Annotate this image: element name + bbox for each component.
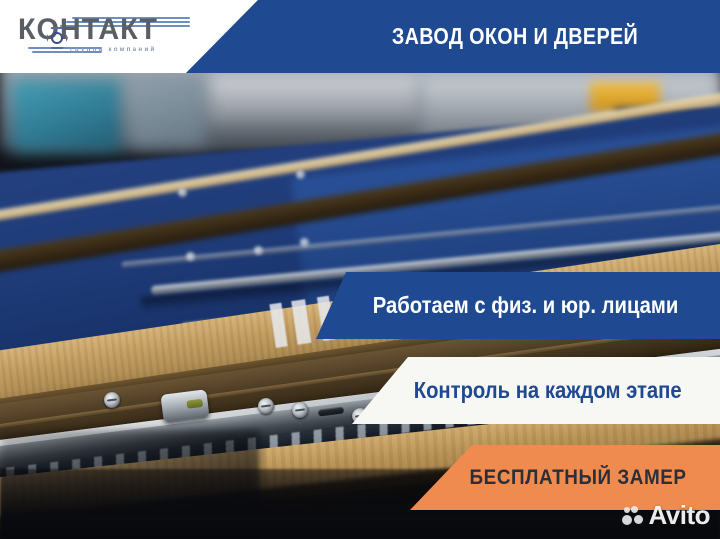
company-logo: КОНТАКТ группа компаний: [18, 11, 190, 61]
logo-tagline: группа компаний: [70, 46, 157, 53]
background-machine: [210, 74, 420, 144]
feature-banner-clients: Работаем с физ. и юр. лицами: [316, 272, 720, 339]
frame-dot: [178, 188, 187, 197]
avito-dots-icon: [622, 505, 644, 527]
background-window-grey: [128, 78, 208, 148]
logo-wordmark: КОНТАКТ: [18, 13, 183, 45]
frame-dot: [186, 252, 195, 261]
frame-dot: [300, 238, 309, 247]
feature-banner-control: Контроль на каждом этапе: [352, 357, 720, 424]
feature-banner-clients-label: Работаем с физ. и юр. лицами: [357, 292, 678, 319]
feature-banner-control-label: Контроль на каждом этапе: [391, 377, 682, 404]
avito-watermark: Avito: [622, 500, 710, 531]
page-title: ЗАВОД ОКОН И ДВЕРЕЙ: [339, 0, 692, 73]
advertisement-banner: КОНТАКТ группа компаний ЗАВОД ОКОН И ДВЕ…: [0, 0, 720, 539]
background-window-teal: [12, 80, 122, 152]
lock-hardware: [160, 389, 209, 423]
avito-wordmark: Avito: [648, 500, 710, 531]
frame-dot: [296, 170, 305, 179]
frame-dot: [254, 246, 263, 255]
feature-banner-free-measure-label: БЕСПЛАТНЫЙ ЗАМЕР: [443, 466, 687, 490]
hexagon-inner-icon: [51, 32, 63, 44]
